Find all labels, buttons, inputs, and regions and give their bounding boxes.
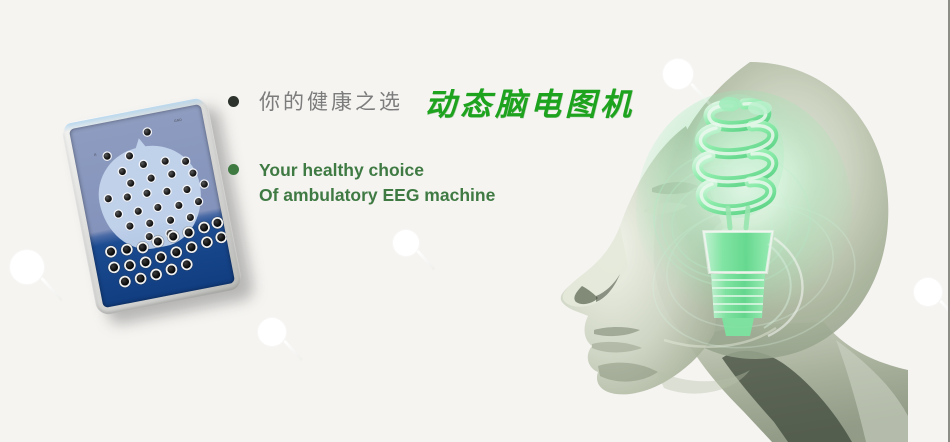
connector-jack [167, 265, 176, 274]
connector-jack [151, 270, 160, 279]
connector-jack [217, 233, 226, 242]
connector-jack [141, 258, 150, 267]
headline-chinese: 动态脑电图机 [425, 79, 635, 124]
bullet-icon [228, 96, 239, 107]
connector-jack [184, 228, 193, 237]
bullet-icon [228, 164, 239, 175]
device-label-GND: GND [174, 118, 183, 123]
connector-jack [156, 253, 165, 262]
connector-jack [120, 277, 129, 286]
connector-jack [106, 247, 115, 256]
connector-jack [213, 218, 222, 227]
secondary-tagline-row: Your healthy choice Of ambulatory EEG ma… [228, 158, 648, 208]
connector-jack [199, 223, 208, 232]
electrode-jack [103, 152, 111, 160]
electrode-jack [200, 180, 208, 188]
magnifier-lens-icon [393, 230, 419, 256]
connector-jack [138, 243, 147, 252]
connector-jack [125, 261, 134, 270]
connector-jack [202, 237, 211, 246]
electrode-jack [143, 128, 151, 136]
electrode-jack [194, 197, 202, 205]
subtitle-chinese: 你的健康之选 [259, 86, 403, 116]
device-label-R: R [94, 153, 97, 157]
magnifier-lens-icon [10, 250, 44, 284]
primary-tagline-row: 你的健康之选 动态脑电图机 [228, 80, 648, 122]
magnifier-handle-icon [283, 340, 302, 361]
device-electrode-panel: L GND R [69, 104, 235, 308]
connector-jack [187, 243, 196, 252]
magnifier-handle-icon [416, 250, 435, 270]
connector-jack [182, 260, 191, 269]
english-line-1: Your healthy choice [259, 158, 495, 183]
connector-jack [109, 263, 118, 272]
connector-jack [136, 274, 145, 283]
connector-jack [122, 245, 131, 254]
eeg-promo-banner: L GND R [0, 0, 950, 442]
english-line-2: Of ambulatory EEG machine [259, 183, 495, 208]
english-tagline-block: Your healthy choice Of ambulatory EEG ma… [259, 158, 495, 208]
connector-jack [172, 248, 181, 257]
banner-copy: 你的健康之选 动态脑电图机 Your healthy choice Of amb… [228, 80, 648, 208]
